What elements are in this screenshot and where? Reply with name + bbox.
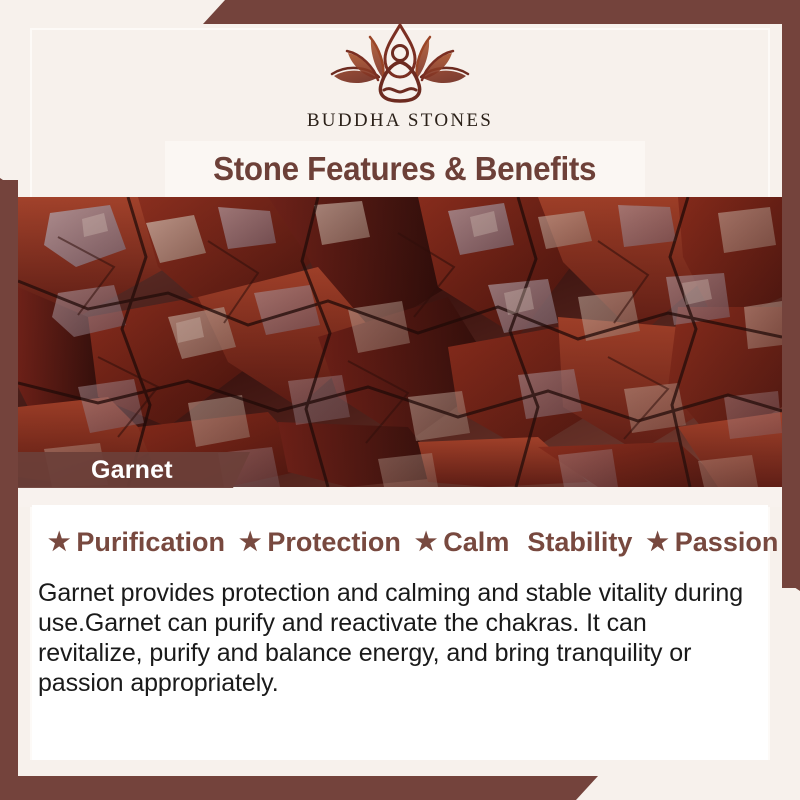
infographic-page: BUDDHA STONES Stone Features & Benefits bbox=[0, 0, 800, 800]
frame-band-top-right bbox=[0, 0, 800, 24]
photo-bottom-strip bbox=[18, 487, 782, 507]
feature-list: ★ Purification ★ Protection ★ Calm Stabi… bbox=[48, 527, 758, 558]
page-title: Stone Features & Benefits bbox=[213, 150, 596, 188]
feature-label: Calm bbox=[443, 527, 509, 558]
frame-band-left bbox=[0, 180, 18, 800]
feature-label: Protection bbox=[267, 527, 401, 558]
frame-band-bottom-left bbox=[0, 776, 800, 800]
star-icon: ★ bbox=[239, 530, 261, 555]
stone-name-label: Garnet bbox=[18, 452, 250, 488]
star-icon: ★ bbox=[646, 530, 668, 555]
stone-name-text: Garnet bbox=[91, 456, 173, 485]
feature-label: Passion bbox=[675, 527, 779, 558]
stone-description: Garnet provides protection and calming a… bbox=[38, 578, 754, 698]
feature-label: Stability bbox=[527, 527, 632, 558]
feature-label: Purification bbox=[76, 527, 225, 558]
brand-header: BUDDHA STONES bbox=[0, 22, 800, 142]
brand-name: BUDDHA STONES bbox=[307, 110, 493, 132]
title-banner: Stone Features & Benefits bbox=[165, 141, 645, 197]
feature-item-passion: ★ Passion bbox=[646, 527, 778, 558]
star-icon: ★ bbox=[48, 530, 70, 555]
feature-item-calm: ★ Calm bbox=[415, 527, 509, 558]
feature-item-protection: ★ Protection bbox=[239, 527, 401, 558]
feature-item-purification: ★ Purification bbox=[48, 527, 225, 558]
star-icon: ★ bbox=[415, 530, 437, 555]
garnet-crystal-cluster-photo bbox=[18, 197, 782, 487]
lotus-meditation-icon bbox=[325, 22, 475, 108]
feature-item-stability: Stability bbox=[521, 527, 632, 558]
